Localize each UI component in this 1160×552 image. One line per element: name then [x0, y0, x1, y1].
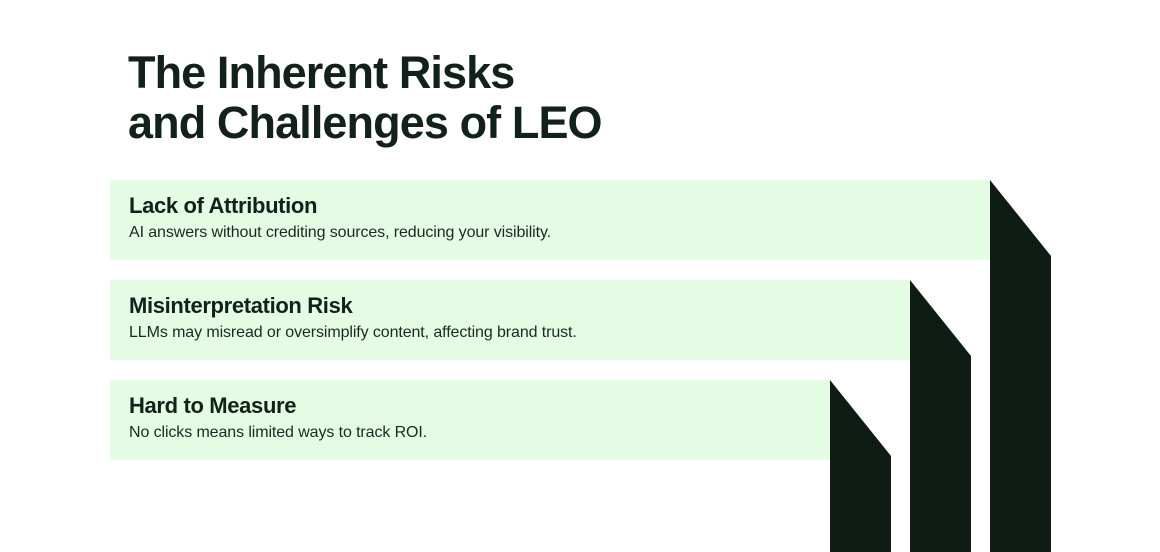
page-title: The Inherent Risks and Challenges of LEO	[128, 48, 828, 148]
pillar-short	[830, 380, 891, 552]
risk-card-body: AI answers without crediting sources, re…	[129, 222, 990, 244]
risk-card-body: LLMs may misread or oversimplify content…	[129, 322, 910, 344]
risk-card-heading: Misinterpretation Risk	[129, 292, 910, 320]
risk-card: Hard to Measure No clicks means limited …	[110, 380, 830, 460]
risk-card-heading: Hard to Measure	[129, 392, 830, 420]
risk-card-body: No clicks means limited ways to track RO…	[129, 422, 830, 444]
risk-card: Misinterpretation Risk LLMs may misread …	[110, 280, 910, 360]
risk-card-heading: Lack of Attribution	[129, 192, 990, 220]
pillar-tall	[990, 180, 1051, 552]
risk-card: Lack of Attribution AI answers without c…	[110, 180, 990, 260]
slide-root: The Inherent Risks and Challenges of LEO…	[0, 0, 1160, 552]
pillar-medium	[910, 280, 971, 552]
